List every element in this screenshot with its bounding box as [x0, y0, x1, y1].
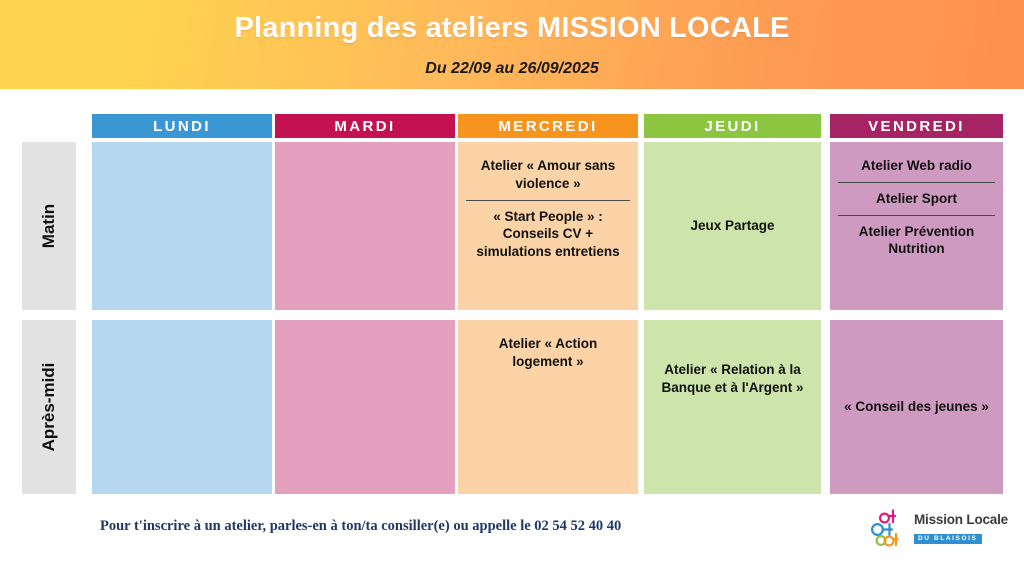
workshop-entry: « Conseil des jeunes »: [838, 391, 995, 423]
cell-matin-mercredi[interactable]: Atelier « Amour sans violence »« Start P…: [458, 142, 638, 310]
cell-entries: Atelier Web radioAtelier SportAtelier Pr…: [838, 150, 995, 302]
cell-entries: [100, 150, 264, 302]
mission-locale-logo-icon: [868, 507, 912, 551]
cell-apres-midi-vendredi[interactable]: « Conseil des jeunes »: [830, 320, 1003, 494]
workshop-entry: Atelier « Action logement »: [466, 328, 630, 378]
workshop-entry: Atelier Sport: [838, 182, 995, 215]
schedule-grid: Matin Après-midi LUNDI MARDI MERCREDI JE…: [0, 0, 1024, 576]
cell-entries: « Conseil des jeunes »: [838, 328, 995, 486]
workshop-entry: « Start People » : Conseils CV + simulat…: [466, 200, 630, 268]
day-header-lundi[interactable]: LUNDI: [92, 114, 272, 138]
cell-apres-midi-mardi[interactable]: [275, 320, 455, 494]
row-label-matin: Matin: [22, 142, 76, 310]
workshop-entry: Atelier Prévention Nutrition: [838, 215, 995, 266]
workshop-entry: Atelier Web radio: [838, 150, 995, 182]
registration-note: Pour t'inscrire à un atelier, parles-en …: [100, 518, 621, 535]
cell-entries: Atelier « Action logement »: [466, 328, 630, 486]
cell-entries: [283, 328, 447, 486]
cell-entries: Atelier « Amour sans violence »« Start P…: [466, 150, 630, 302]
cell-matin-vendredi[interactable]: Atelier Web radioAtelier SportAtelier Pr…: [830, 142, 1003, 310]
cell-matin-jeudi[interactable]: Jeux Partage: [644, 142, 821, 310]
logo-tagline: DU BLAISOIS: [914, 534, 982, 545]
day-header-mercredi[interactable]: MERCREDI: [458, 114, 638, 138]
cell-entries: Jeux Partage: [652, 150, 813, 302]
day-header-vendredi[interactable]: VENDREDI: [830, 114, 1003, 138]
cell-matin-mardi[interactable]: [275, 142, 455, 310]
logo: Mission Locale DU BLAISOIS: [868, 505, 1018, 553]
workshop-entry: Atelier « Relation à la Banque et à l'Ar…: [652, 354, 813, 404]
planning-poster: Planning des ateliers MISSION LOCALE Du …: [0, 0, 1024, 576]
row-label-apres-midi: Après-midi: [22, 320, 76, 494]
row-label-apres-midi-text: Après-midi: [39, 363, 59, 452]
row-label-matin-text: Matin: [39, 204, 59, 248]
cell-apres-midi-lundi[interactable]: [92, 320, 272, 494]
workshop-entry: Atelier « Amour sans violence »: [466, 150, 630, 200]
cell-entries: [283, 150, 447, 302]
logo-name: Mission Locale: [914, 513, 1008, 527]
cell-apres-midi-mercredi[interactable]: Atelier « Action logement »: [458, 320, 638, 494]
day-header-mardi[interactable]: MARDI: [275, 114, 455, 138]
day-header-jeudi[interactable]: JEUDI: [644, 114, 821, 138]
cell-matin-lundi[interactable]: [92, 142, 272, 310]
cell-apres-midi-jeudi[interactable]: Atelier « Relation à la Banque et à l'Ar…: [644, 320, 821, 494]
cell-entries: [100, 328, 264, 486]
logo-text: Mission Locale DU BLAISOIS: [914, 513, 1008, 545]
workshop-entry: Jeux Partage: [652, 210, 813, 242]
cell-entries: Atelier « Relation à la Banque et à l'Ar…: [652, 328, 813, 512]
